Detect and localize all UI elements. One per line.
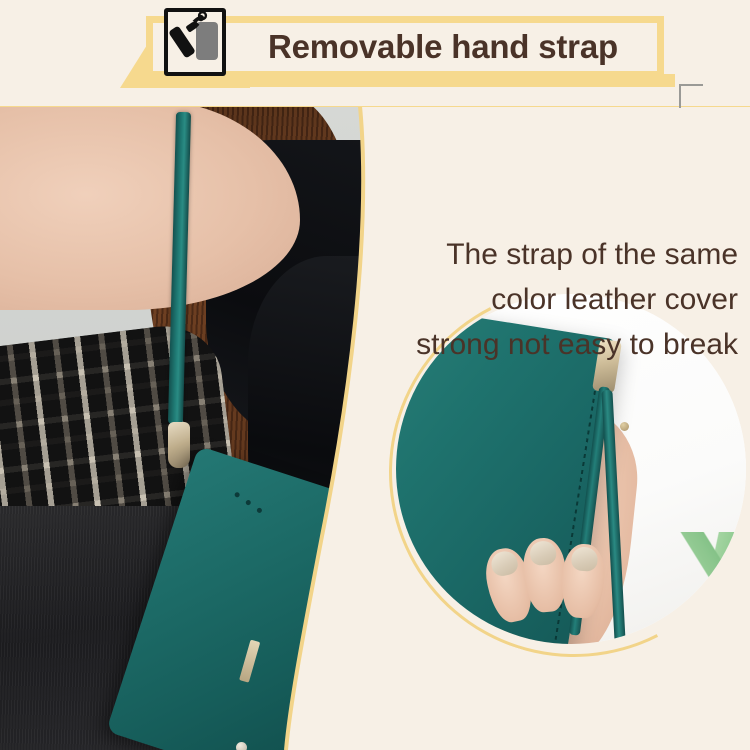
product-feature-banner: Removable hand strap <box>0 0 750 750</box>
hand-strap-phone-icon <box>164 8 226 76</box>
green-leaf <box>662 532 746 610</box>
header-zone: Removable hand strap <box>0 0 750 106</box>
decorative-corner-bracket <box>679 84 703 108</box>
page-title: Removable hand strap <box>268 22 668 72</box>
photo-stage: The strap of the same color leather cove… <box>0 106 750 750</box>
wrist-and-hand <box>0 106 300 310</box>
description-line-1: The strap of the same <box>308 232 738 277</box>
hero-photo <box>0 106 420 750</box>
description-line-3: strong not easy to break <box>308 322 738 367</box>
description-text: The strap of the same color leather cove… <box>308 232 738 367</box>
fingers <box>488 538 628 644</box>
strap-rivet <box>620 422 629 431</box>
description-line-2: color leather cover <box>308 277 738 322</box>
strap-clasp <box>168 422 190 468</box>
jeans-rivet <box>236 742 247 750</box>
